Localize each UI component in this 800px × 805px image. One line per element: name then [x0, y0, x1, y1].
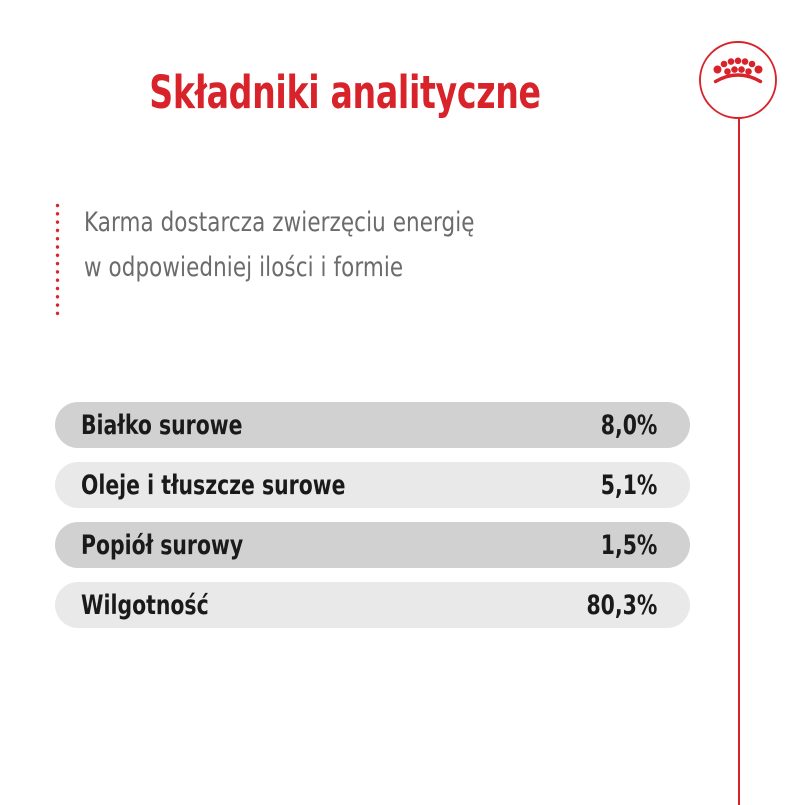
brand-mark [698, 40, 778, 120]
table-row: Wilgotność 80,3% [55, 582, 690, 628]
row-label: Wilgotność [81, 592, 209, 619]
royal-canin-crown-icon [698, 40, 778, 120]
row-label: Oleje i tłuszcze surowe [81, 472, 345, 499]
dotted-rule-decoration [55, 203, 60, 319]
row-label: Białko surowe [81, 412, 242, 439]
analytical-constituents-table: Białko surowe 8,0% Oleje i tłuszcze suro… [55, 402, 690, 628]
intro-line-2: w odpowiedniej ilości i formie [84, 245, 475, 290]
row-value: 1,5% [600, 532, 657, 559]
table-row: Popiół surowy 1,5% [55, 522, 690, 568]
row-value: 8,0% [600, 412, 657, 439]
table-row: Oleje i tłuszcze surowe 5,1% [55, 462, 690, 508]
analytical-constituents-page: Składniki analityczne Karma dostarcza zw… [0, 0, 800, 800]
intro-text: Karma dostarcza zwierzęciu energię w odp… [84, 200, 475, 290]
row-label: Popiół surowy [81, 532, 243, 559]
brand-stem-line [738, 118, 740, 805]
page-title: Składniki analityczne [62, 66, 628, 119]
table-row: Białko surowe 8,0% [55, 402, 690, 448]
row-value: 80,3% [586, 592, 657, 619]
row-value: 5,1% [600, 472, 657, 499]
intro-block: Karma dostarcza zwierzęciu energię w odp… [55, 200, 675, 319]
intro-line-1: Karma dostarcza zwierzęciu energię [84, 200, 475, 245]
